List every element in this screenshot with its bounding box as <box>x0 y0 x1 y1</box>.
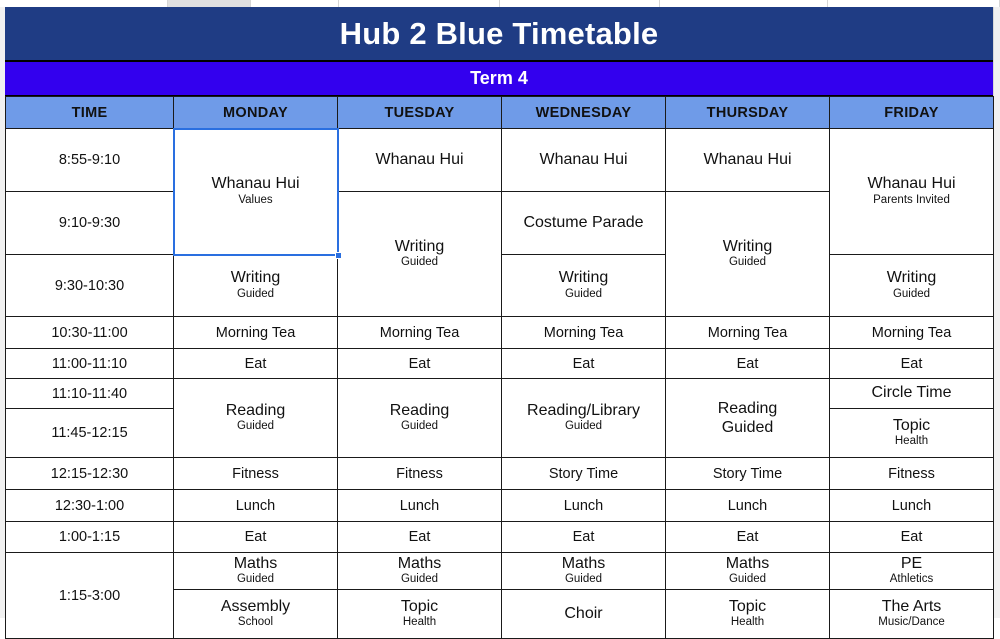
table-row: 1:00-1:15 Eat Eat Eat Eat Eat <box>6 522 994 553</box>
cell-tuesday-fitness[interactable]: Fitness <box>338 458 502 490</box>
cell-title: Reading <box>341 402 498 420</box>
cell-thursday-story-time[interactable]: Story Time <box>666 458 830 490</box>
cell-title: Whanau Hui <box>833 175 990 193</box>
cell-subtitle: Guided <box>505 288 662 302</box>
cell-thursday-morning-tea[interactable]: Morning Tea <box>666 317 830 349</box>
cell-title: Writing <box>341 238 498 256</box>
cell-wednesday-eat-am[interactable]: Eat <box>502 349 666 379</box>
column-strip-segment[interactable] <box>500 0 660 7</box>
column-header-monday[interactable]: MONDAY <box>174 97 338 129</box>
cell-subtitle: Health <box>833 435 990 449</box>
cell-wednesday-reading-library[interactable]: Reading/Library Guided <box>502 379 666 458</box>
table-row: 8:55-9:10 Whanau Hui Values Whanau Hui W… <box>6 129 994 192</box>
cell-title-line2: Guided <box>669 418 826 437</box>
cell-subtitle: School <box>177 616 334 630</box>
cell-monday-whanau-hui[interactable]: Whanau Hui Values <box>174 129 338 255</box>
cell-wednesday-story-time[interactable]: Story Time <box>502 458 666 490</box>
table-row: 1:15-3:00 Maths Guided Maths Guided Math… <box>6 553 994 590</box>
time-label[interactable]: 10:30-11:00 <box>6 317 174 349</box>
cell-subtitle: Guided <box>177 288 334 302</box>
time-label[interactable]: 11:45-12:15 <box>6 409 174 458</box>
cell-subtitle: Parents Invited <box>833 194 990 208</box>
cell-tuesday-topic[interactable]: Topic Health <box>338 590 502 639</box>
cell-title: The Arts <box>833 598 990 616</box>
column-header-friday[interactable]: FRIDAY <box>830 97 994 129</box>
cell-title: Maths <box>177 555 334 573</box>
cell-title: Whanau Hui <box>669 151 826 169</box>
cell-title: Choir <box>505 605 662 623</box>
cell-title: Assembly <box>177 598 334 616</box>
cell-title: Maths <box>669 555 826 573</box>
timetable-app: Hub 2 Blue Timetable Term 4 TIME MONDAY … <box>0 0 1000 618</box>
cell-thursday-eat-pm[interactable]: Eat <box>666 522 830 553</box>
time-label[interactable]: 12:15-12:30 <box>6 458 174 490</box>
cell-subtitle: Values <box>177 194 334 208</box>
cell-friday-fitness[interactable]: Fitness <box>830 458 994 490</box>
column-strip-segment[interactable] <box>828 0 1000 7</box>
cell-tuesday-eat-am[interactable]: Eat <box>338 349 502 379</box>
cell-friday-pe[interactable]: PE Athletics <box>830 553 994 590</box>
cell-friday-circle-time[interactable]: Circle Time <box>830 379 994 409</box>
cell-title: Maths <box>505 555 662 573</box>
cell-friday-topic-am[interactable]: Topic Health <box>830 409 994 458</box>
cell-title: Writing <box>833 269 990 287</box>
cell-subtitle: Health <box>341 616 498 630</box>
cell-friday-lunch[interactable]: Lunch <box>830 490 994 522</box>
cell-title: Reading <box>177 402 334 420</box>
cell-title: Topic <box>669 598 826 616</box>
cell-monday-writing[interactable]: Writing Guided <box>174 255 338 317</box>
table-row: 12:15-12:30 Fitness Fitness Story Time S… <box>6 458 994 490</box>
cell-wednesday-choir[interactable]: Choir <box>502 590 666 639</box>
cell-subtitle: Guided <box>505 420 662 434</box>
cell-tuesday-lunch[interactable]: Lunch <box>338 490 502 522</box>
column-strip-segment[interactable] <box>660 0 828 7</box>
cell-title: Whanau Hui <box>341 151 498 169</box>
cell-wednesday-costume-parade[interactable]: Costume Parade <box>502 192 666 255</box>
cell-thursday-writing[interactable]: Writing Guided <box>666 192 830 317</box>
cell-friday-whanau-hui[interactable]: Whanau Hui Parents Invited <box>830 129 994 255</box>
cell-monday-assembly[interactable]: Assembly School <box>174 590 338 639</box>
column-header-wednesday[interactable]: WEDNESDAY <box>502 97 666 129</box>
cell-wednesday-lunch[interactable]: Lunch <box>502 490 666 522</box>
cell-friday-eat-pm[interactable]: Eat <box>830 522 994 553</box>
cell-thursday-maths[interactable]: Maths Guided <box>666 553 830 590</box>
cell-wednesday-morning-tea[interactable]: Morning Tea <box>502 317 666 349</box>
cell-tuesday-eat-pm[interactable]: Eat <box>338 522 502 553</box>
spreadsheet-right-gutter <box>993 7 1000 618</box>
cell-friday-eat-am[interactable]: Eat <box>830 349 994 379</box>
cell-subtitle: Guided <box>833 288 990 302</box>
cell-monday-reading[interactable]: Reading Guided <box>174 379 338 458</box>
cell-monday-eat-am[interactable]: Eat <box>174 349 338 379</box>
cell-subtitle: Health <box>669 616 826 630</box>
cell-monday-fitness[interactable]: Fitness <box>174 458 338 490</box>
cell-title: Whanau Hui <box>177 175 334 193</box>
cell-tuesday-reading[interactable]: Reading Guided <box>338 379 502 458</box>
cell-friday-the-arts[interactable]: The Arts Music/Dance <box>830 590 994 639</box>
cell-monday-eat-pm[interactable]: Eat <box>174 522 338 553</box>
time-label[interactable]: 9:10-9:30 <box>6 192 174 255</box>
cell-fill-handle[interactable] <box>335 252 342 259</box>
cell-subtitle: Guided <box>505 573 662 587</box>
cell-subtitle: Guided <box>177 573 334 587</box>
cell-thursday-eat-am[interactable]: Eat <box>666 349 830 379</box>
cell-subtitle: Music/Dance <box>833 616 990 630</box>
cell-tuesday-morning-tea[interactable]: Morning Tea <box>338 317 502 349</box>
table-row: 12:30-1:00 Lunch Lunch Lunch Lunch Lunch <box>6 490 994 522</box>
cell-thursday-topic[interactable]: Topic Health <box>666 590 830 639</box>
column-strip-segment[interactable] <box>251 0 340 7</box>
cell-title: Writing <box>505 269 662 287</box>
cell-subtitle: Guided <box>341 256 498 270</box>
cell-title: Reading <box>669 399 826 418</box>
time-label[interactable]: 12:30-1:00 <box>6 490 174 522</box>
cell-subtitle: Guided <box>341 420 498 434</box>
table-row: 10:30-11:00 Morning Tea Morning Tea Morn… <box>6 317 994 349</box>
cell-title: Reading/Library <box>505 402 662 420</box>
time-label[interactable]: 8:55-9:10 <box>6 129 174 192</box>
cell-thursday-reading[interactable]: Reading Guided <box>666 379 830 458</box>
cell-title: Topic <box>833 417 990 435</box>
column-strip-segment[interactable] <box>339 0 499 7</box>
cell-monday-lunch[interactable]: Lunch <box>174 490 338 522</box>
timetable-grid: TIME MONDAY TUESDAY WEDNESDAY THURSDAY F… <box>5 96 994 639</box>
cell-tuesday-writing[interactable]: Writing Guided <box>338 192 502 317</box>
column-header-tuesday[interactable]: TUESDAY <box>338 97 502 129</box>
cell-wednesday-maths[interactable]: Maths Guided <box>502 553 666 590</box>
table-row: 11:10-11:40 Reading Guided Reading Guide… <box>6 379 994 409</box>
cell-title: Writing <box>177 269 334 287</box>
page-title: Hub 2 Blue Timetable <box>5 7 993 62</box>
cell-title: Writing <box>669 238 826 256</box>
column-strip-segment[interactable] <box>0 0 168 7</box>
cell-title: Maths <box>341 555 498 573</box>
timetable-container: Hub 2 Blue Timetable Term 4 TIME MONDAY … <box>5 7 993 639</box>
cell-wednesday-eat-pm[interactable]: Eat <box>502 522 666 553</box>
cell-subtitle: Guided <box>669 573 826 587</box>
cell-monday-morning-tea[interactable]: Morning Tea <box>174 317 338 349</box>
column-strip-segment-selected[interactable] <box>168 0 251 7</box>
cell-subtitle: Guided <box>669 256 826 270</box>
cell-friday-writing[interactable]: Writing Guided <box>830 255 994 317</box>
cell-title: Circle Time <box>833 384 990 402</box>
cell-tuesday-whanau-hui[interactable]: Whanau Hui <box>338 129 502 192</box>
cell-subtitle: Athletics <box>833 573 990 587</box>
cell-title: Topic <box>341 598 498 616</box>
term-banner: Term 4 <box>5 62 993 96</box>
column-header-thursday[interactable]: THURSDAY <box>666 97 830 129</box>
cell-friday-morning-tea[interactable]: Morning Tea <box>830 317 994 349</box>
column-header-time[interactable]: TIME <box>6 97 174 129</box>
cell-tuesday-maths[interactable]: Maths Guided <box>338 553 502 590</box>
cell-subtitle: Guided <box>177 420 334 434</box>
time-label[interactable]: 9:30-10:30 <box>6 255 174 317</box>
cell-wednesday-writing[interactable]: Writing Guided <box>502 255 666 317</box>
day-header-row: TIME MONDAY TUESDAY WEDNESDAY THURSDAY F… <box>6 97 994 129</box>
cell-thursday-whanau-hui[interactable]: Whanau Hui <box>666 129 830 192</box>
time-label[interactable]: 11:10-11:40 <box>6 379 174 409</box>
cell-title: Costume Parade <box>505 214 662 232</box>
cell-thursday-lunch[interactable]: Lunch <box>666 490 830 522</box>
time-label[interactable]: 1:15-3:00 <box>6 553 174 639</box>
cell-subtitle: Guided <box>341 573 498 587</box>
time-label[interactable]: 11:00-11:10 <box>6 349 174 379</box>
table-row: 11:00-11:10 Eat Eat Eat Eat Eat <box>6 349 994 379</box>
time-label[interactable]: 1:00-1:15 <box>6 522 174 553</box>
cell-title: Whanau Hui <box>505 151 662 169</box>
cell-wednesday-whanau-hui[interactable]: Whanau Hui <box>502 129 666 192</box>
cell-monday-maths[interactable]: Maths Guided <box>174 553 338 590</box>
cell-title: PE <box>833 555 990 573</box>
